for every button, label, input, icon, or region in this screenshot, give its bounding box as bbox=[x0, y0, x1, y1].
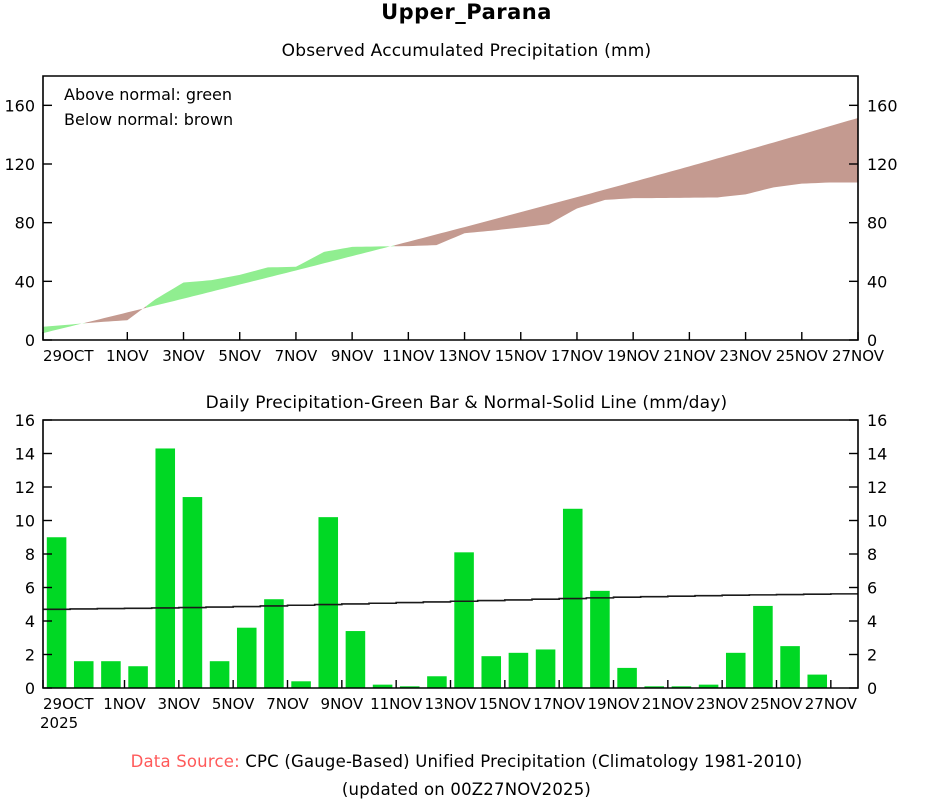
svg-text:6: 6 bbox=[867, 579, 877, 598]
svg-text:12: 12 bbox=[867, 478, 887, 497]
updated-line: (updated on 00Z27NOV2025) bbox=[0, 780, 933, 799]
svg-text:9NOV: 9NOV bbox=[331, 347, 374, 362]
svg-text:25NOV: 25NOV bbox=[776, 347, 829, 362]
svg-text:11NOV: 11NOV bbox=[382, 347, 435, 362]
svg-text:13NOV: 13NOV bbox=[424, 695, 477, 713]
svg-text:5NOV: 5NOV bbox=[212, 695, 255, 713]
svg-text:0: 0 bbox=[25, 331, 35, 350]
svg-text:21NOV: 21NOV bbox=[663, 347, 716, 362]
svg-text:4: 4 bbox=[25, 612, 35, 631]
svg-text:15NOV: 15NOV bbox=[495, 347, 548, 362]
svg-text:10: 10 bbox=[867, 512, 887, 531]
svg-text:23NOV: 23NOV bbox=[720, 347, 773, 362]
data-source-text: CPC (Gauge-Based) Unified Precipitation … bbox=[245, 752, 802, 771]
svg-text:4: 4 bbox=[867, 612, 877, 631]
svg-text:40: 40 bbox=[867, 272, 887, 291]
svg-text:23NOV: 23NOV bbox=[696, 695, 749, 713]
svg-text:16: 16 bbox=[15, 411, 35, 430]
svg-text:1NOV: 1NOV bbox=[103, 695, 146, 713]
svg-text:5NOV: 5NOV bbox=[218, 347, 261, 362]
svg-text:15NOV: 15NOV bbox=[479, 695, 532, 713]
data-source-line: Data Source: CPC (Gauge-Based) Unified P… bbox=[0, 752, 933, 771]
svg-text:2: 2 bbox=[867, 646, 877, 665]
svg-text:21NOV: 21NOV bbox=[642, 695, 695, 713]
svg-text:19NOV: 19NOV bbox=[587, 695, 640, 713]
svg-text:2: 2 bbox=[25, 646, 35, 665]
svg-text:Above normal: green: Above normal: green bbox=[64, 85, 232, 104]
svg-text:80: 80 bbox=[15, 214, 35, 233]
svg-text:120: 120 bbox=[867, 155, 898, 174]
svg-text:14: 14 bbox=[15, 445, 35, 464]
svg-text:8: 8 bbox=[867, 545, 877, 564]
data-source-label: Data Source: bbox=[131, 752, 240, 771]
accumulated-chart-title: Observed Accumulated Precipitation (mm) bbox=[0, 41, 933, 61]
svg-text:40: 40 bbox=[15, 272, 35, 291]
svg-text:Below normal: brown: Below normal: brown bbox=[64, 110, 233, 129]
svg-text:29OCT: 29OCT bbox=[43, 347, 94, 362]
svg-text:17NOV: 17NOV bbox=[533, 695, 586, 713]
svg-text:14: 14 bbox=[867, 445, 887, 464]
svg-text:16: 16 bbox=[867, 411, 887, 430]
svg-text:7NOV: 7NOV bbox=[275, 347, 318, 362]
svg-text:160: 160 bbox=[4, 96, 35, 115]
svg-text:10: 10 bbox=[15, 512, 35, 531]
svg-text:17NOV: 17NOV bbox=[551, 347, 604, 362]
svg-text:25NOV: 25NOV bbox=[750, 695, 803, 713]
svg-text:8: 8 bbox=[25, 545, 35, 564]
svg-text:12: 12 bbox=[15, 478, 35, 497]
chart-page: Upper_Parana Observed Accumulated Precip… bbox=[0, 0, 933, 809]
svg-text:3NOV: 3NOV bbox=[162, 347, 205, 362]
svg-text:13NOV: 13NOV bbox=[438, 347, 491, 362]
svg-text:7NOV: 7NOV bbox=[266, 695, 309, 713]
svg-text:80: 80 bbox=[867, 214, 887, 233]
svg-text:6: 6 bbox=[25, 579, 35, 598]
accumulated-precipitation-chart: 004040808012012016016029OCT1NOV3NOV5NOV7… bbox=[0, 62, 933, 362]
page-title: Upper_Parana bbox=[0, 0, 933, 24]
svg-text:27NOV: 27NOV bbox=[832, 347, 885, 362]
svg-text:1NOV: 1NOV bbox=[106, 347, 149, 362]
svg-text:160: 160 bbox=[867, 96, 898, 115]
svg-text:3NOV: 3NOV bbox=[158, 695, 201, 713]
svg-text:2025: 2025 bbox=[40, 714, 78, 732]
svg-text:120: 120 bbox=[4, 155, 35, 174]
svg-text:9NOV: 9NOV bbox=[321, 695, 364, 713]
svg-text:29OCT: 29OCT bbox=[43, 695, 94, 713]
daily-precipitation-chart: 0022446688101012121414161629OCT1NOV3NOV5… bbox=[0, 410, 933, 740]
svg-text:27NOV: 27NOV bbox=[805, 695, 858, 713]
svg-text:0: 0 bbox=[25, 679, 35, 698]
svg-text:0: 0 bbox=[867, 679, 877, 698]
svg-text:19NOV: 19NOV bbox=[607, 347, 660, 362]
svg-text:11NOV: 11NOV bbox=[370, 695, 423, 713]
